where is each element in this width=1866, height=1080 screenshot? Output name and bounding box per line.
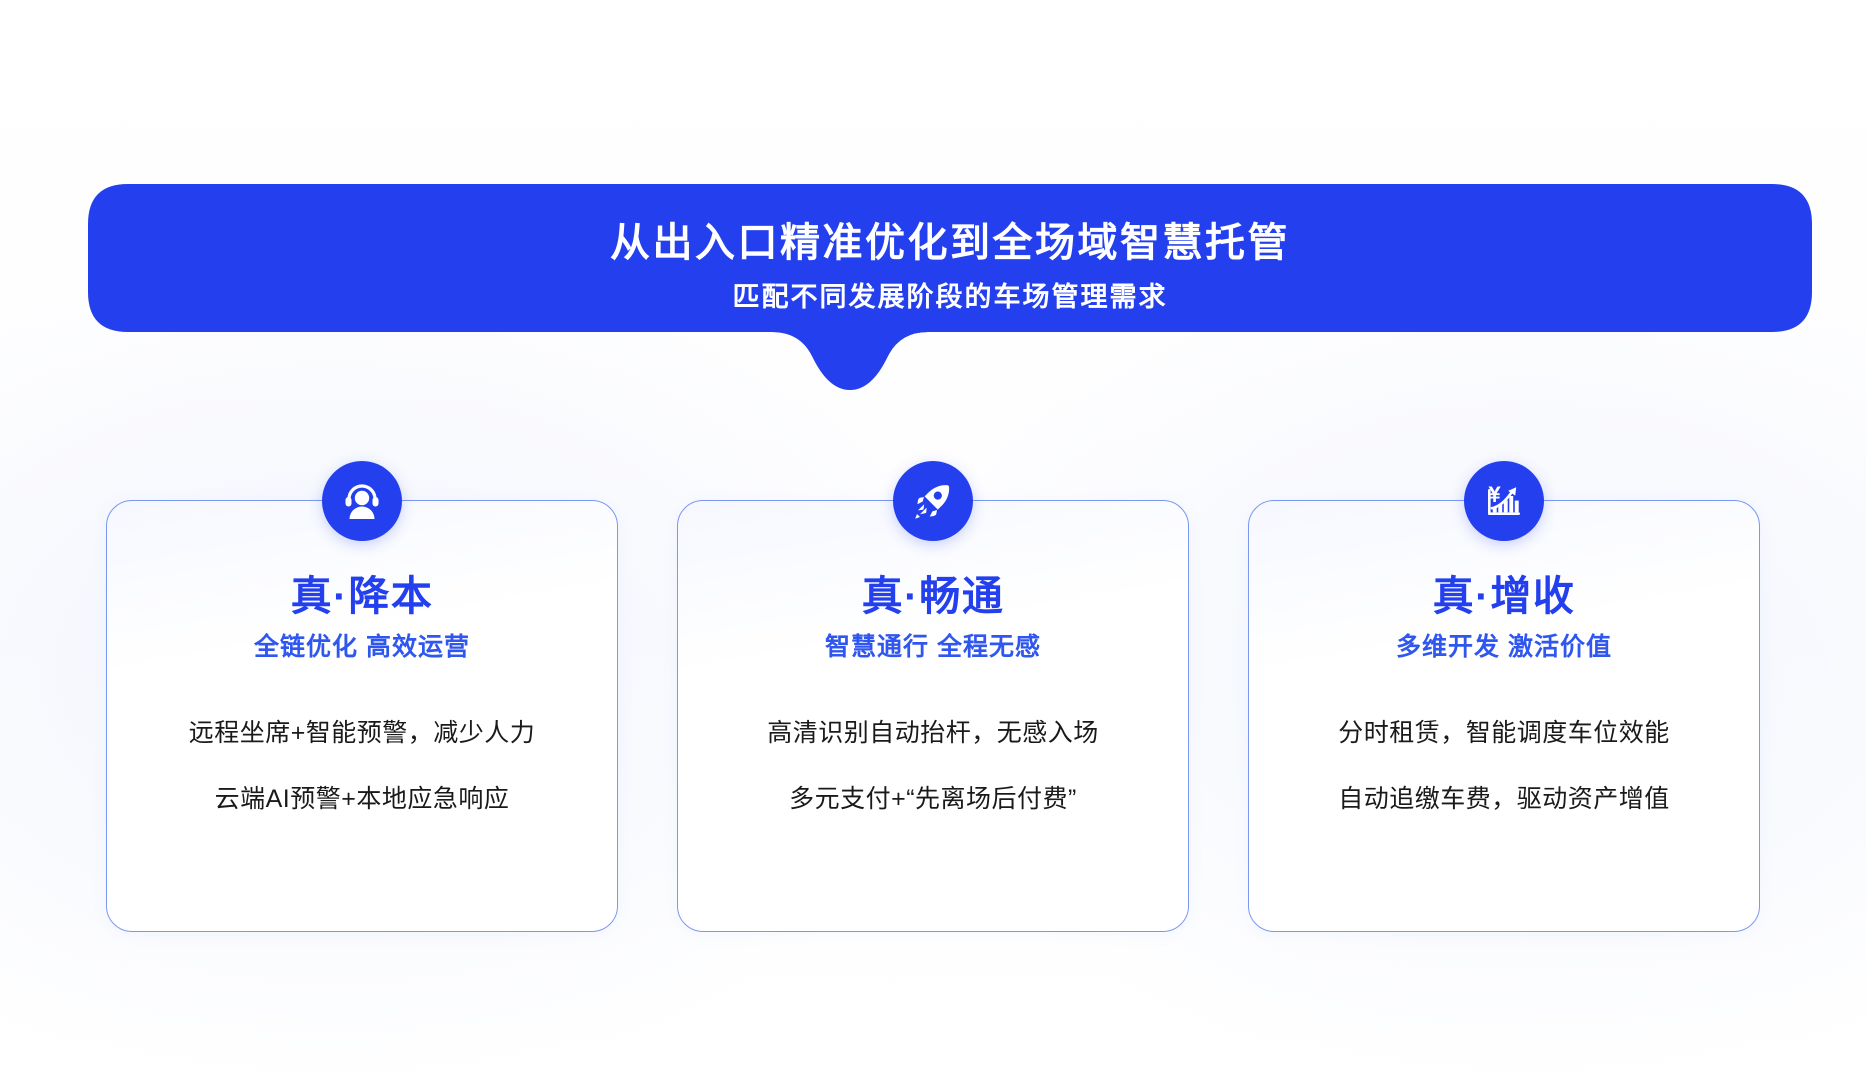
feature-cards-row: 真·降本 全链优化 高效运营 远程坐席+智能预警，减少人力 云端AI预警+本地应… [106,500,1760,932]
feature-card-cost-reduction[interactable]: 真·降本 全链优化 高效运营 远程坐席+智能预警，减少人力 云端AI预警+本地应… [106,500,618,932]
card-line: 多元支付+“先离场后付费” [789,784,1077,814]
header-banner: 从出入口精准优化到全场域智慧托管 匹配不同发展阶段的车场管理需求 [88,184,1812,414]
headset-agent-icon [322,461,402,541]
banner-text-block: 从出入口精准优化到全场域智慧托管 匹配不同发展阶段的车场管理需求 [88,184,1812,332]
card-heading: 真·畅通 [862,573,1005,620]
card-line: 高清识别自动抬杆，无感入场 [767,718,1099,748]
card-body: 远程坐席+智能预警，减少人力 云端AI预警+本地应急响应 [107,718,617,814]
card-line: 远程坐席+智能预警，减少人力 [189,718,536,748]
card-line: 自动追缴车费，驱动资产增值 [1338,784,1670,814]
yen-growth-chart-icon [1464,461,1544,541]
card-line: 分时租赁，智能调度车位效能 [1338,718,1670,748]
infographic-stage: 从出入口精准优化到全场域智慧托管 匹配不同发展阶段的车场管理需求 [0,0,1866,1080]
card-heading: 真·增收 [1433,573,1576,620]
card-heading: 真·降本 [291,573,434,620]
banner-subtitle: 匹配不同发展阶段的车场管理需求 [733,281,1168,313]
rocket-icon [893,461,973,541]
card-subheading: 多维开发 激活价值 [1396,632,1612,662]
feature-card-revenue-growth[interactable]: 真·增收 多维开发 激活价值 分时租赁，智能调度车位效能 自动追缴车费，驱动资产… [1248,500,1760,932]
banner-title: 从出入口精准优化到全场域智慧托管 [610,219,1290,267]
card-subheading: 全链优化 高效运营 [254,632,470,662]
card-body: 高清识别自动抬杆，无感入场 多元支付+“先离场后付费” [678,718,1188,814]
card-subheading: 智慧通行 全程无感 [825,632,1041,662]
card-line: 云端AI预警+本地应急响应 [215,784,510,814]
feature-card-smooth-flow[interactable]: 真·畅通 智慧通行 全程无感 高清识别自动抬杆，无感入场 多元支付+“先离场后付… [677,500,1189,932]
card-body: 分时租赁，智能调度车位效能 自动追缴车费，驱动资产增值 [1249,718,1759,814]
